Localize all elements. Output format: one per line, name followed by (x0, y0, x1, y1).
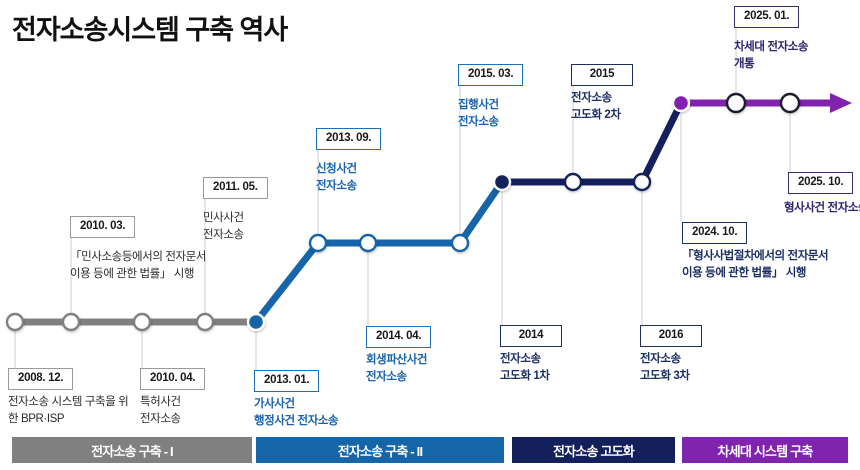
node-2008-12[interactable] (7, 314, 23, 330)
date-box-2010-04: 2010. 04. (140, 368, 205, 390)
node-2014-04[interactable] (360, 235, 376, 251)
date-box-2013-01: 2013. 01. (254, 370, 319, 392)
caption-2014: 전자소송 고도화 1차 (500, 351, 610, 384)
infographic-root: 전자소송시스템 구축 역사 (0, 0, 860, 470)
caption-2024-10: 「형사사법절차에서의 전자문서 이용 등에 관한 법률」 시행 (682, 248, 860, 281)
date-box-2013-09: 2013. 09. (316, 128, 381, 150)
date-box-2011-05: 2011. 05. (203, 177, 268, 199)
legend-label-phase4: 차세대 시스템 구축 (718, 441, 813, 460)
legend-label-phase1: 전자소송 구축 - I (91, 441, 173, 460)
caption-2011-05: 민사사건 전자소송 (203, 210, 313, 243)
caption-2015: 전자소송 고도화 2차 (571, 90, 681, 123)
node-2010-04[interactable] (134, 314, 150, 330)
caption-2025-01: 차세대 전자소송 개통 (734, 39, 854, 72)
date-box-2025-10: 2025. 10. (788, 172, 853, 194)
date-box-2015-03: 2015. 03. (458, 64, 523, 86)
date-box-2010-03: 2010. 03. (70, 216, 135, 238)
node-2016[interactable] (634, 174, 650, 190)
date-box-2025-01: 2025. 01. (734, 6, 799, 28)
legend-item-phase1[interactable]: 전자소송 구축 - I (12, 437, 252, 463)
timeline-arrow-icon (830, 93, 852, 113)
caption-2010-03: 「민사소송등에서의 전자문서 이용 등에 관한 법률」 시행 (70, 249, 250, 282)
caption-2013-09: 신청사건 전자소송 (316, 161, 426, 194)
date-box-2014: 2014 (500, 325, 562, 347)
legend-item-phase3[interactable]: 전자소송 고도화 (512, 437, 675, 463)
caption-2025-10: 형사사건 전자소송 (784, 200, 860, 217)
node-2025-01[interactable] (727, 94, 745, 112)
caption-2014-04: 회생파산사건 전자소송 (366, 352, 486, 385)
legend-label-phase3: 전자소송 고도화 (553, 441, 634, 460)
legend-item-phase2[interactable]: 전자소송 구축 - II (256, 437, 504, 463)
caption-2015-03: 집행사건 전자소송 (458, 97, 568, 130)
node-2011-05[interactable] (197, 314, 213, 330)
node-2010-03[interactable] (63, 314, 79, 330)
date-box-2008-12: 2008. 12. (8, 368, 73, 390)
node-2025-10[interactable] (781, 94, 799, 112)
node-2014-mid[interactable] (452, 235, 468, 251)
legend-item-phase4[interactable]: 차세대 시스템 구축 (682, 437, 848, 463)
date-box-2024-10: 2024. 10. (682, 222, 747, 244)
caption-2010-04: 특허사건 전자소송 (140, 394, 250, 427)
timeline-segment-phase2 (256, 243, 460, 322)
node-2015[interactable] (565, 174, 581, 190)
node-2013-01[interactable] (248, 314, 264, 330)
legend-label-phase2: 전자소송 구축 - II (338, 441, 423, 460)
caption-2016: 전자소송 고도화 3차 (640, 351, 750, 384)
timeline-riser-phase2-3 (460, 182, 502, 243)
legend: 전자소송 구축 - I 전자소송 구축 - II 전자소송 고도화 차세대 시스… (0, 437, 860, 463)
date-box-2016: 2016 (640, 325, 702, 347)
node-2014[interactable] (494, 174, 510, 190)
caption-2013-01: 가사사건 행정사건 전자소송 (254, 396, 389, 429)
date-box-2014-04: 2014. 04. (366, 326, 431, 348)
date-box-2015: 2015 (571, 64, 633, 86)
